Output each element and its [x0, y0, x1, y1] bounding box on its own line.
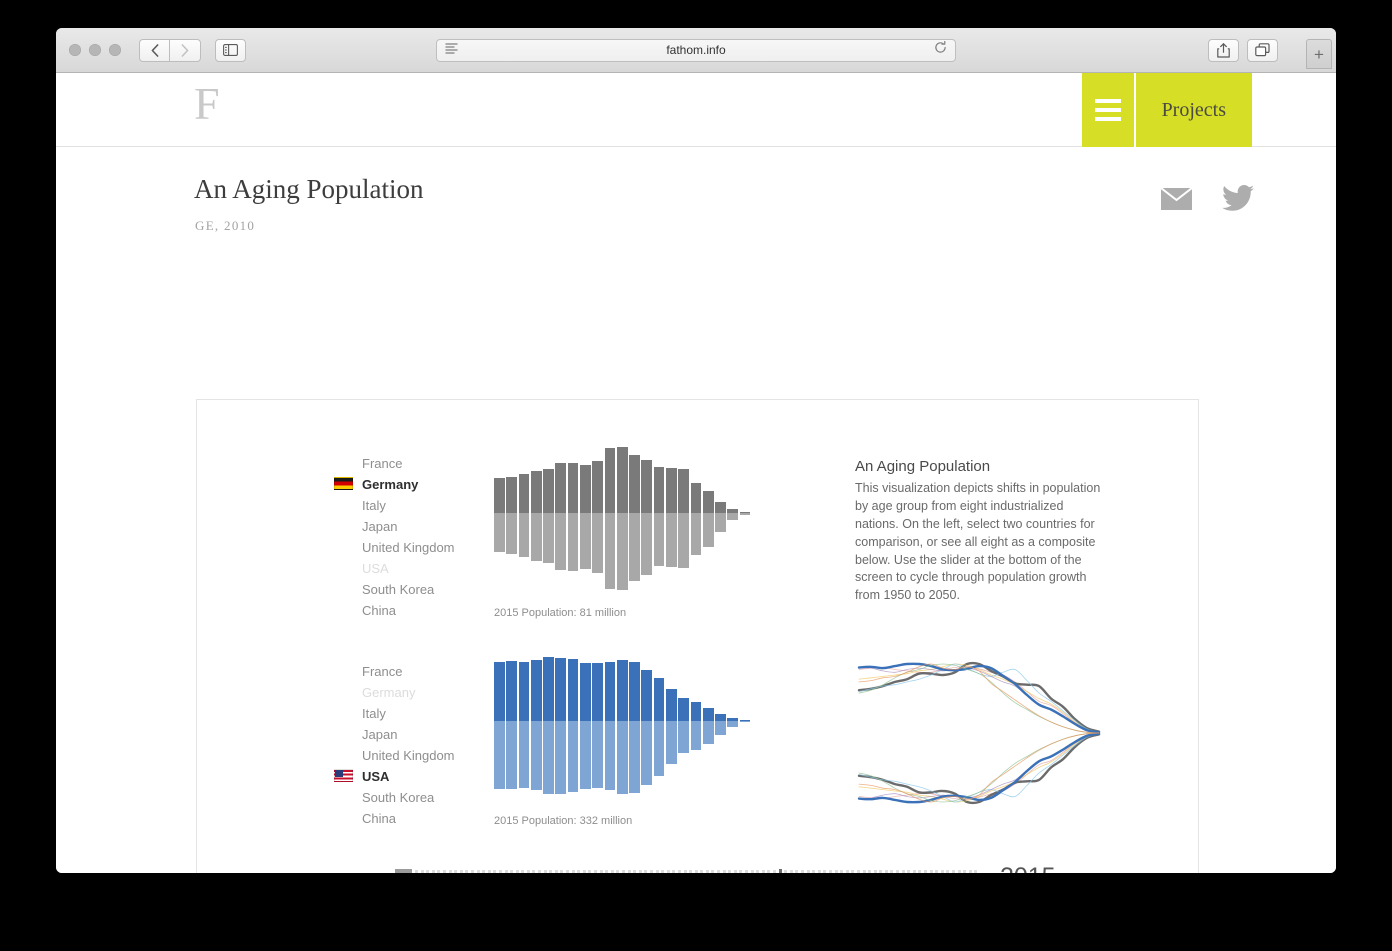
slider-tick[interactable] — [790, 870, 793, 873]
slider-tick[interactable] — [555, 870, 558, 873]
slider-tick[interactable] — [644, 870, 647, 873]
slider-tick[interactable] — [745, 870, 748, 873]
pyramid-bar-female — [641, 721, 652, 786]
slider-tick[interactable] — [924, 870, 927, 873]
country-label: Italy — [362, 498, 386, 513]
pyramid-bar-male — [506, 477, 517, 513]
slider-tick[interactable] — [560, 870, 563, 873]
slider-tick[interactable] — [700, 870, 703, 873]
pyramid-bar-female — [727, 513, 738, 520]
pyramid-bar-male — [592, 663, 603, 720]
pyramid-bar — [715, 657, 726, 797]
usa-population-label: 2015 Population: 332 million — [494, 815, 632, 827]
pyramid-bar — [727, 657, 738, 797]
pyramid-bar-male — [654, 678, 665, 720]
slider-tick[interactable] — [918, 870, 921, 873]
composite-line-japan — [859, 734, 1099, 802]
slider-tick[interactable] — [588, 870, 591, 873]
pyramid-bar-female — [703, 721, 714, 744]
pyramid-bar — [580, 657, 591, 797]
slider-current-tick[interactable] — [779, 869, 782, 873]
pyramid-bar-male — [678, 469, 689, 513]
navigation-buttons — [139, 39, 246, 62]
slider-tick[interactable] — [935, 870, 938, 873]
pyramid-bar-female — [629, 513, 640, 581]
slider-tick[interactable] — [739, 870, 742, 873]
page-subtitle: GE, 2010 — [195, 218, 255, 234]
slider-tick[interactable] — [823, 870, 826, 873]
pyramid-bar-male — [494, 662, 505, 721]
pyramid-bar-male — [666, 468, 677, 513]
pyramid-bar-female — [506, 721, 517, 790]
nav-item-projects[interactable]: Projects — [1136, 73, 1252, 147]
slider-tick[interactable] — [756, 870, 759, 873]
slider-tick[interactable] — [566, 870, 569, 873]
pyramid-bar-female — [543, 721, 554, 794]
description-body: This visualization depicts shifts in pop… — [855, 480, 1103, 605]
pyramid-bar-male — [703, 491, 714, 513]
share-icons — [1161, 185, 1254, 212]
pyramid-bar-male — [568, 463, 579, 513]
pyramid-bar-male — [519, 662, 530, 720]
pyramid-bar — [605, 447, 616, 592]
site-header: F Projects — [56, 73, 1336, 147]
page-title: An Aging Population — [194, 174, 424, 205]
pyramid-bar-female — [691, 513, 702, 555]
pyramid-bar — [727, 447, 738, 592]
slider-tick[interactable] — [829, 870, 832, 873]
slider-tick[interactable] — [628, 870, 631, 873]
browser-right-toolbar — [1208, 39, 1278, 62]
slider-tick[interactable] — [460, 870, 463, 873]
slider-tick[interactable] — [454, 870, 457, 873]
primary-nav: Projects — [1082, 73, 1252, 147]
slider-tick[interactable] — [695, 870, 698, 873]
window-traffic-lights — [69, 44, 121, 56]
slider-tick[interactable] — [801, 870, 804, 873]
pyramid-bar-female — [519, 513, 530, 557]
slider-tick[interactable] — [969, 870, 972, 873]
slider-tick[interactable] — [773, 870, 776, 873]
slider-tick[interactable] — [600, 870, 603, 873]
country-label: USA — [362, 561, 389, 576]
slider-tick[interactable] — [890, 870, 893, 873]
pyramid-bar — [592, 447, 603, 592]
slider-tick[interactable] — [706, 870, 709, 873]
slider-tick[interactable] — [946, 870, 949, 873]
pyramid-bar-male — [703, 708, 714, 721]
country-label: Italy — [362, 706, 386, 721]
pyramid-bar-female — [654, 721, 665, 776]
slider-tick[interactable] — [728, 870, 731, 873]
description-panel: An Aging Population This visualization d… — [855, 458, 1103, 605]
country-label: China — [362, 811, 396, 826]
pyramid-bar-male — [580, 465, 591, 513]
slider-tick[interactable] — [493, 870, 496, 873]
slider-tick[interactable] — [443, 870, 446, 873]
composite-line-united-kingdom — [859, 734, 1099, 799]
slider-tick[interactable] — [516, 870, 519, 873]
pyramid-bar-female — [666, 721, 677, 764]
slider-tick[interactable] — [807, 870, 810, 873]
slider-tick[interactable] — [622, 870, 625, 873]
pyramid-bar-female — [715, 513, 726, 532]
pyramid-bar-female — [678, 513, 689, 568]
slider-tick[interactable] — [421, 870, 424, 873]
pyramid-bar-male — [555, 463, 566, 513]
slider-tick[interactable] — [974, 870, 977, 873]
slider-tick[interactable] — [639, 870, 642, 873]
slider-tick[interactable] — [689, 870, 692, 873]
pyramid-bar-female — [666, 513, 677, 567]
country-label: France — [362, 456, 402, 471]
slider-tick[interactable] — [477, 870, 480, 873]
slider-tick[interactable] — [958, 870, 961, 873]
pyramid-bar-male — [543, 469, 554, 513]
pyramid-bar — [494, 447, 505, 592]
slider-tick[interactable] — [952, 870, 955, 873]
slider-tick[interactable] — [941, 870, 944, 873]
slider-tick[interactable] — [734, 870, 737, 873]
sidebar-toggle-button[interactable] — [215, 39, 246, 62]
slider-tick[interactable] — [963, 870, 966, 873]
slider-tick[interactable] — [762, 870, 765, 873]
pyramid-bar-male — [691, 702, 702, 721]
pyramid-bar — [629, 657, 640, 797]
pyramid-bar — [678, 447, 689, 592]
pyramid-bar-female — [641, 513, 652, 575]
country-label: France — [362, 664, 402, 679]
pyramid-bar-female — [531, 721, 542, 790]
pyramid-bar — [666, 447, 677, 592]
pyramid-bar — [543, 447, 554, 592]
url-text: fathom.info — [666, 43, 725, 57]
slider-tick[interactable] — [499, 870, 502, 873]
germany-population-pyramid[interactable] — [494, 447, 752, 592]
pyramid-bar-male — [531, 660, 542, 721]
pyramid-bar-female — [555, 721, 566, 794]
pyramid-bar — [555, 447, 566, 592]
slider-tick[interactable] — [527, 870, 530, 873]
pyramid-bar-male — [715, 714, 726, 721]
pyramid-bar — [543, 657, 554, 797]
pyramid-bar — [715, 447, 726, 592]
back-chevron-icon — [151, 44, 159, 57]
pyramid-bar-female — [740, 513, 751, 515]
pyramid-bar — [629, 447, 640, 592]
country-label: South Korea — [362, 582, 434, 597]
hamburger-menu-icon[interactable] — [1082, 73, 1136, 147]
pyramid-bar — [691, 657, 702, 797]
slider-tick[interactable] — [857, 870, 860, 873]
pyramid-bar-male — [543, 657, 554, 721]
pyramid-bar-male — [666, 689, 677, 720]
slider-tick[interactable] — [656, 870, 659, 873]
close-window-button[interactable] — [69, 44, 81, 56]
maximize-window-button[interactable] — [109, 44, 121, 56]
pyramid-bar — [568, 447, 579, 592]
pyramid-bar-male — [629, 455, 640, 513]
slider-tick[interactable] — [751, 870, 754, 873]
slider-tick[interactable] — [885, 870, 888, 873]
slider-tick[interactable] — [840, 870, 843, 873]
pyramid-bar-female — [592, 513, 603, 573]
pyramid-bar-female — [543, 513, 554, 563]
pyramid-bar-male — [494, 478, 505, 513]
pyramid-bar — [666, 657, 677, 797]
slider-tick[interactable] — [415, 870, 418, 873]
pyramid-bar-female — [678, 721, 689, 754]
pyramid-bar — [691, 447, 702, 592]
email-icon[interactable] — [1161, 188, 1192, 210]
browser-window: fathom.info — [56, 28, 1336, 873]
slider-tick[interactable] — [851, 870, 854, 873]
pyramid-bar — [506, 447, 517, 592]
composite-line-italy — [859, 664, 1099, 732]
pyramid-bar-female — [654, 513, 665, 566]
slider-tick[interactable] — [902, 870, 905, 873]
slider-tick[interactable] — [863, 870, 866, 873]
composite-line-china — [859, 733, 1099, 802]
slider-tick[interactable] — [812, 870, 815, 873]
current-year-label: 2015 — [1000, 863, 1056, 873]
country-label: Japan — [362, 519, 397, 534]
pyramid-bar-male — [568, 659, 579, 720]
slider-tick[interactable] — [913, 870, 916, 873]
pyramid-bar — [641, 657, 652, 797]
pyramid-bar — [531, 657, 542, 797]
reload-icon[interactable] — [934, 41, 947, 59]
slider-tick[interactable] — [426, 870, 429, 873]
country-label: China — [362, 603, 396, 618]
slider-tick[interactable] — [633, 870, 636, 873]
pyramid-bar — [703, 657, 714, 797]
slider-tick[interactable] — [432, 870, 435, 873]
slider-tick[interactable] — [907, 870, 910, 873]
pyramid-bar-female — [506, 513, 517, 554]
country-label: Germany — [362, 685, 415, 700]
pyramid-bar-male — [641, 460, 652, 513]
country-label: USA — [362, 769, 389, 784]
slider-track[interactable] — [415, 869, 980, 873]
twitter-icon[interactable] — [1222, 185, 1254, 212]
slider-tick[interactable] — [505, 870, 508, 873]
slider-tick[interactable] — [661, 870, 664, 873]
slider-tick[interactable] — [583, 870, 586, 873]
pyramid-bar-female — [580, 721, 591, 789]
slider-tick[interactable] — [874, 870, 877, 873]
slider-tick[interactable] — [488, 870, 491, 873]
pyramid-bar — [617, 657, 628, 797]
play-button[interactable] — [395, 869, 412, 873]
pyramid-bar-female — [555, 513, 566, 570]
slider-tick[interactable] — [723, 870, 726, 873]
usa-flag-icon — [334, 769, 353, 782]
visualization-frame: France Germany Italy Japan United Kingdo… — [196, 399, 1199, 873]
pyramid-bar — [617, 447, 628, 592]
country-label: United Kingdom — [362, 748, 455, 763]
year-slider[interactable]: 2015 — [395, 863, 1056, 873]
pyramid-bar — [740, 657, 751, 797]
pyramid-bar-male — [605, 448, 616, 513]
usa-population-pyramid[interactable] — [494, 657, 752, 797]
pyramid-bar-female — [494, 513, 505, 553]
country-label: Japan — [362, 727, 397, 742]
pyramid-bar-male — [617, 447, 628, 513]
sidebar-toggle-icon — [223, 44, 238, 56]
share-icon — [1217, 43, 1230, 58]
slider-tick[interactable] — [896, 870, 899, 873]
slider-tick[interactable] — [835, 870, 838, 873]
pyramid-bar-male — [580, 663, 591, 721]
pyramid-bar — [519, 657, 530, 797]
pyramid-bar-female — [629, 721, 640, 793]
pyramid-bar-female — [568, 721, 579, 792]
show-tabs-icon — [1255, 43, 1270, 57]
country-label: South Korea — [362, 790, 434, 805]
slider-tick[interactable] — [678, 870, 681, 873]
forward-chevron-icon — [181, 44, 189, 57]
browser-titlebar: fathom.info — [56, 28, 1336, 73]
pyramid-bar-male — [519, 474, 530, 513]
pyramid-bar-female — [740, 721, 751, 723]
slider-tick[interactable] — [930, 870, 933, 873]
back-button[interactable] — [139, 39, 170, 62]
slider-tick[interactable] — [711, 870, 714, 873]
show-tabs-button[interactable] — [1247, 39, 1278, 62]
description-heading: An Aging Population — [855, 458, 1103, 475]
pyramid-bar-female — [715, 721, 726, 735]
pyramid-bar — [641, 447, 652, 592]
slider-tick[interactable] — [471, 870, 474, 873]
composite-line-south-korea — [859, 733, 1099, 802]
pyramid-bar-male — [555, 658, 566, 721]
slider-tick[interactable] — [510, 870, 513, 873]
slider-tick[interactable] — [672, 870, 675, 873]
pyramid-bar — [519, 447, 530, 592]
slider-tick[interactable] — [538, 870, 541, 873]
pyramid-bar — [555, 657, 566, 797]
pyramid-bar-male — [691, 483, 702, 513]
pyramid-bar-female — [617, 513, 628, 590]
fathom-logo[interactable]: F — [194, 81, 220, 127]
page-body: An Aging Population GE, 2010 France — [56, 147, 1336, 873]
share-button[interactable] — [1208, 39, 1239, 62]
pyramid-bar — [580, 447, 591, 592]
slider-tick[interactable] — [667, 870, 670, 873]
pyramid-bar — [568, 657, 579, 797]
address-bar[interactable]: fathom.info — [436, 39, 956, 62]
pyramid-bar-female — [580, 513, 591, 569]
slider-tick[interactable] — [879, 870, 882, 873]
pyramid-bar-male — [617, 660, 628, 721]
slider-tick[interactable] — [449, 870, 452, 873]
germany-population-label: 2015 Population: 81 million — [494, 607, 626, 619]
slider-tick[interactable] — [717, 870, 720, 873]
pyramid-bar-female — [691, 721, 702, 750]
pyramid-bar-female — [727, 721, 738, 727]
pyramid-bars — [494, 657, 752, 797]
composite-lines — [855, 658, 1105, 808]
pyramid-bar-female — [592, 721, 603, 788]
pyramid-bar-female — [617, 721, 628, 795]
pyramid-bar-female — [703, 513, 714, 547]
pyramid-bar-female — [605, 721, 616, 790]
new-tab-button[interactable]: + — [1306, 39, 1332, 69]
slider-tick[interactable] — [521, 870, 524, 873]
pyramid-bar — [494, 657, 505, 797]
pyramid-bar — [605, 657, 616, 797]
slider-tick[interactable] — [611, 870, 614, 873]
composite-line-italy — [859, 734, 1099, 802]
composite-line-china — [859, 664, 1099, 733]
pyramid-bar-male — [506, 661, 517, 721]
pyramid-bar — [531, 447, 542, 592]
pyramid-bar-male — [531, 471, 542, 513]
slider-tick[interactable] — [594, 870, 597, 873]
slider-tick[interactable] — [577, 870, 580, 873]
slider-tick[interactable] — [572, 870, 575, 873]
pyramid-bar-female — [519, 721, 530, 788]
pyramid-bar-male — [605, 662, 616, 720]
slider-tick[interactable] — [767, 870, 770, 873]
pyramid-bar-male — [715, 502, 726, 513]
composite-line-south-korea — [859, 664, 1099, 733]
slider-tick[interactable] — [795, 870, 798, 873]
pyramid-bar-female — [531, 513, 542, 561]
slider-tick[interactable] — [482, 870, 485, 873]
pyramid-bar — [506, 657, 517, 797]
pyramid-bar — [740, 447, 751, 592]
slider-tick[interactable] — [605, 870, 608, 873]
slider-tick[interactable] — [868, 870, 871, 873]
slider-tick[interactable] — [544, 870, 547, 873]
reader-view-icon[interactable] — [445, 41, 458, 59]
new-tab-label: + — [1314, 46, 1324, 63]
pyramid-bar — [654, 657, 665, 797]
slider-tick[interactable] — [818, 870, 821, 873]
pyramid-bar — [678, 657, 689, 797]
pyramid-bar-male — [629, 662, 640, 720]
slider-tick[interactable] — [437, 870, 440, 873]
slider-tick[interactable] — [650, 870, 653, 873]
slider-tick[interactable] — [549, 870, 552, 873]
slider-tick[interactable] — [784, 870, 787, 873]
slider-tick[interactable] — [465, 870, 468, 873]
slider-tick[interactable] — [684, 870, 687, 873]
pyramid-bar-female — [605, 513, 616, 589]
pyramid-bars — [494, 447, 752, 592]
pyramid-bar-female — [568, 513, 579, 571]
slider-tick[interactable] — [532, 870, 535, 873]
pyramid-bar-male — [654, 467, 665, 513]
country-label: Germany — [362, 477, 418, 492]
slider-tick[interactable] — [846, 870, 849, 873]
germany-flag-icon — [334, 477, 353, 490]
country-label: United Kingdom — [362, 540, 455, 555]
pyramid-bar-male — [678, 698, 689, 721]
forward-button[interactable] — [170, 39, 201, 62]
pyramid-bar — [703, 447, 714, 592]
play-icon — [400, 873, 408, 874]
minimize-window-button[interactable] — [89, 44, 101, 56]
pyramid-bar — [654, 447, 665, 592]
pyramid-bar — [592, 657, 603, 797]
composite-line-united-kingdom — [859, 668, 1099, 733]
composite-line-japan — [859, 664, 1099, 732]
composite-chart[interactable] — [855, 658, 1105, 808]
slider-tick[interactable] — [616, 870, 619, 873]
